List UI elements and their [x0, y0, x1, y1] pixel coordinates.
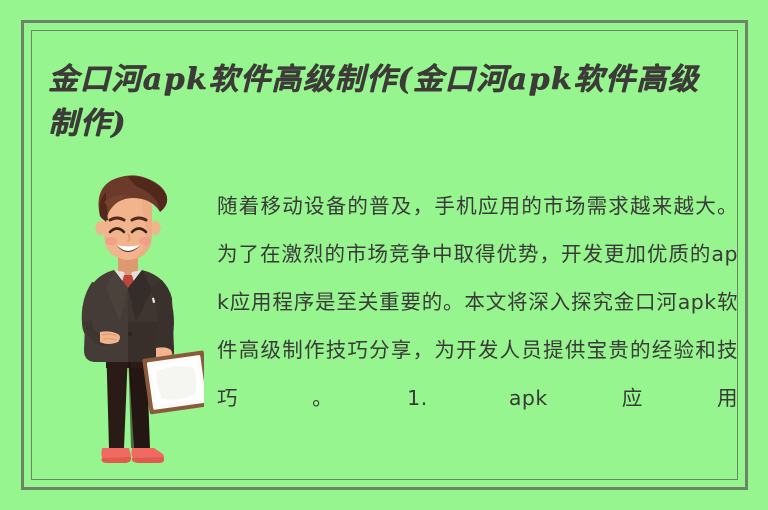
article-card: 金口河apk软件高级制作(金口河apk软件高级制作) — [0, 0, 768, 510]
page-title: 金口河apk软件高级制作(金口河apk软件高级制作) — [48, 58, 720, 146]
article-body: 随着移动设备的普及，手机应用的市场需求越来越大。为了在激烈的市场竞争中取得优势，… — [217, 182, 738, 422]
businessman-illustration — [62, 172, 204, 474]
